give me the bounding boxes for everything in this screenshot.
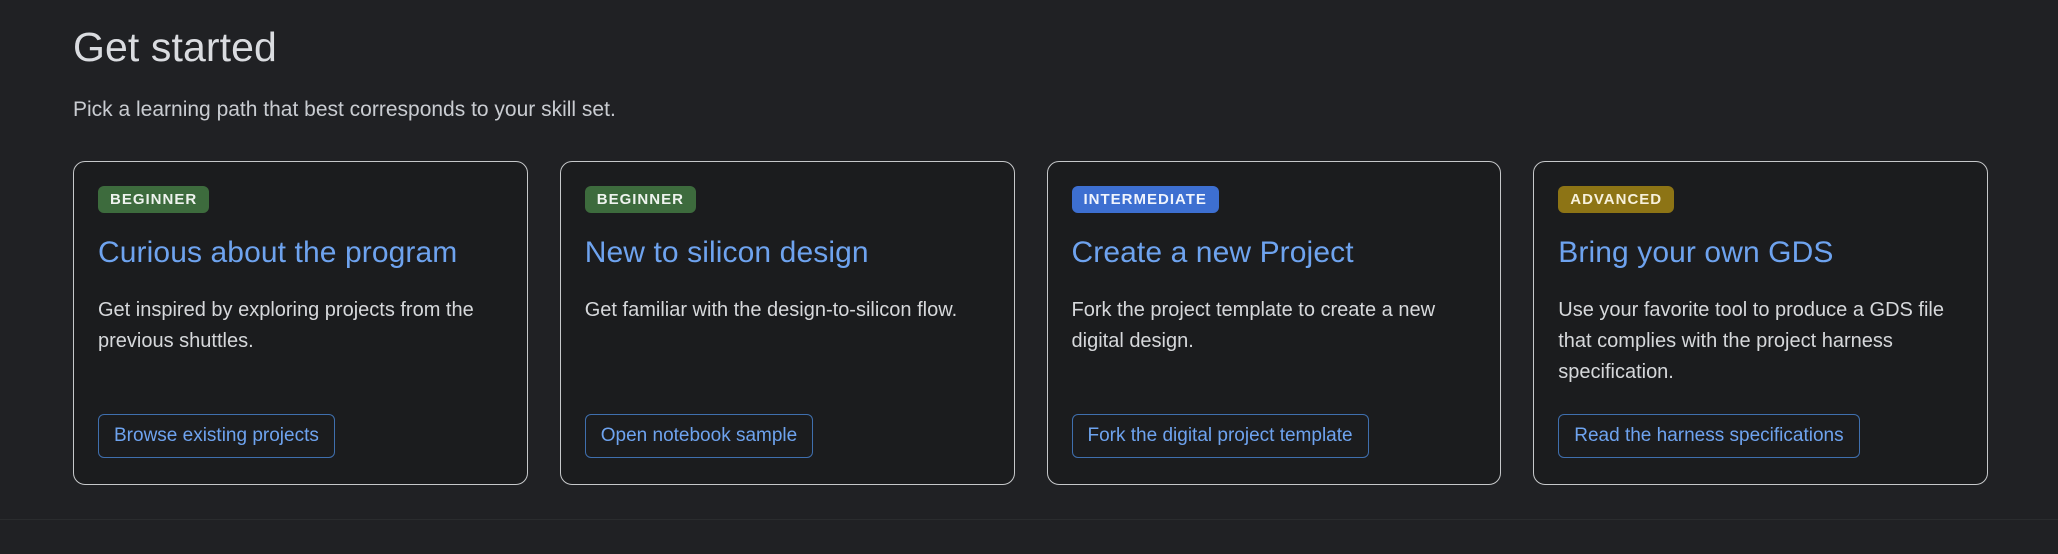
card-action-button[interactable]: Open notebook sample: [585, 414, 813, 459]
learning-path-card[interactable]: ADVANCED Bring your own GDS Use your fav…: [1533, 161, 1988, 486]
card-title: New to silicon design: [585, 235, 990, 271]
learning-path-card-list: BEGINNER Curious about the program Get i…: [73, 161, 2058, 486]
card-description: Get familiar with the design-to-silicon …: [585, 295, 990, 388]
card-title: Curious about the program: [98, 235, 503, 271]
card-action-button[interactable]: Read the harness specifications: [1558, 414, 1859, 459]
page-subtitle: Pick a learning path that best correspon…: [73, 95, 2058, 124]
card-title: Create a new Project: [1072, 235, 1477, 271]
difficulty-badge: INTERMEDIATE: [1072, 186, 1219, 213]
card-title: Bring your own GDS: [1558, 235, 1963, 271]
difficulty-badge: BEGINNER: [585, 186, 696, 213]
card-description: Use your favorite tool to produce a GDS …: [1558, 295, 1963, 388]
get-started-page: Get started Pick a learning path that be…: [0, 0, 2058, 554]
learning-path-card[interactable]: BEGINNER New to silicon design Get famil…: [560, 161, 1015, 486]
card-action-button[interactable]: Fork the digital project template: [1072, 414, 1369, 459]
page-content: Get started Pick a learning path that be…: [0, 0, 2058, 485]
difficulty-badge: ADVANCED: [1558, 186, 1674, 213]
learning-path-card[interactable]: BEGINNER Curious about the program Get i…: [73, 161, 528, 486]
card-action-button[interactable]: Browse existing projects: [98, 414, 335, 459]
card-description: Get inspired by exploring projects from …: [98, 295, 503, 388]
difficulty-badge: BEGINNER: [98, 186, 209, 213]
learning-path-card[interactable]: INTERMEDIATE Create a new Project Fork t…: [1047, 161, 1502, 486]
card-description: Fork the project template to create a ne…: [1072, 295, 1477, 388]
page-title: Get started: [73, 22, 2058, 73]
section-divider: [0, 519, 2058, 520]
